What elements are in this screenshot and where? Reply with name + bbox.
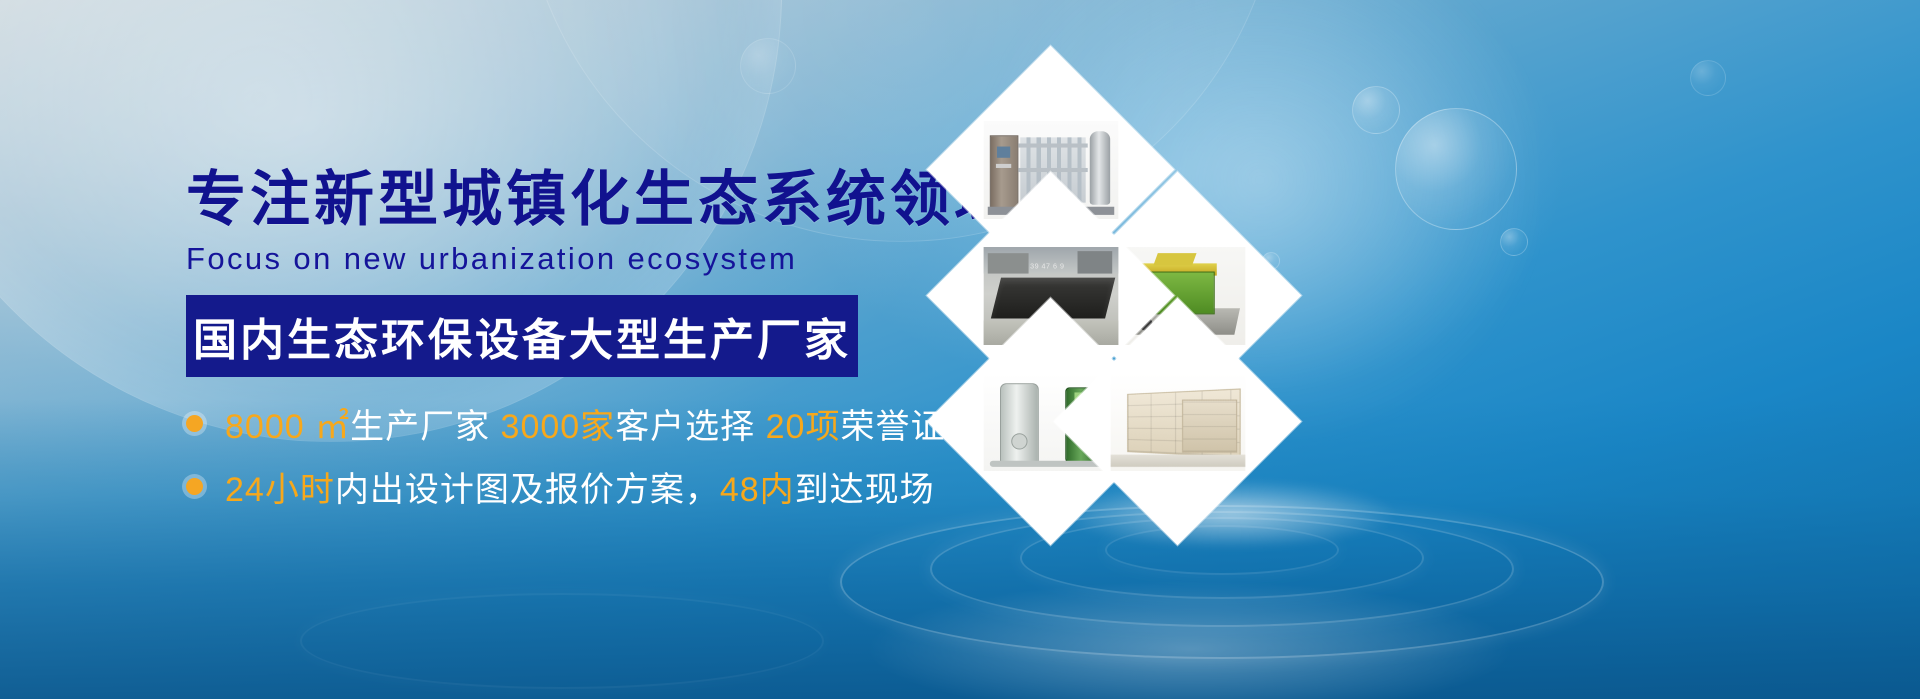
bullet-dot-icon bbox=[186, 478, 203, 495]
feature-1-seg-4: 20项 bbox=[766, 408, 841, 446]
ripple-ring-decor bbox=[840, 505, 1604, 659]
feature-line-1: 8000 ㎡生产厂家 3000家客户选择 20项荣誉证书 bbox=[225, 399, 980, 448]
feature-1-seg-2: 3000家 bbox=[501, 408, 616, 446]
bubble-icon bbox=[740, 38, 796, 94]
list-item: 8000 ㎡生产厂家 3000家客户选择 20项荣誉证书 bbox=[186, 399, 906, 448]
ripple-ring-decor bbox=[1105, 525, 1339, 575]
product-photo-blocks bbox=[1110, 373, 1245, 471]
bubble-icon bbox=[1395, 108, 1517, 230]
feature-1-seg-1: 生产厂家 bbox=[350, 408, 500, 446]
page-subtitle: Focus on new urbanization ecosystem bbox=[186, 241, 906, 277]
highlight-banner-box: 国内生态环保设备大型生产厂家 bbox=[186, 295, 858, 377]
feature-2-seg-0: 24小时 bbox=[225, 471, 335, 509]
bullet-dot-icon bbox=[186, 415, 203, 432]
feature-2-seg-2: 48内 bbox=[720, 471, 795, 509]
ripple-ring-decor bbox=[930, 511, 1514, 627]
page-title: 专注新型城镇化生态系统领域 bbox=[186, 168, 906, 233]
highlight-banner-text: 国内生态环保设备大型生产厂家 bbox=[193, 304, 851, 368]
feature-2-seg-1: 内出设计图及报价方案， bbox=[335, 471, 720, 509]
banner-text-block: 专注新型城镇化生态系统领域 Focus on new urbanization … bbox=[186, 168, 906, 525]
bubble-icon bbox=[1352, 86, 1400, 134]
feature-list: 8000 ㎡生产厂家 3000家客户选择 20项荣誉证书 24小时内出设计图及报… bbox=[186, 399, 906, 511]
ripple-ring-decor bbox=[300, 593, 824, 689]
ripple-ring-decor bbox=[1020, 517, 1424, 599]
product-diamond-collage: 39 47 6 9 bbox=[905, 62, 1305, 480]
bubble-icon bbox=[1500, 228, 1528, 256]
promo-banner: 专注新型城镇化生态系统领域 Focus on new urbanization … bbox=[0, 0, 1920, 699]
feature-1-seg-3: 客户选择 bbox=[615, 408, 765, 446]
list-item: 24小时内出设计图及报价方案，48内到达现场 bbox=[186, 462, 906, 511]
site-photo-label: 39 47 6 9 bbox=[1030, 263, 1064, 270]
feature-line-2: 24小时内出设计图及报价方案，48内到达现场 bbox=[225, 462, 935, 511]
feature-1-seg-0: 8000 ㎡ bbox=[225, 408, 350, 446]
bubble-icon bbox=[1690, 60, 1726, 96]
